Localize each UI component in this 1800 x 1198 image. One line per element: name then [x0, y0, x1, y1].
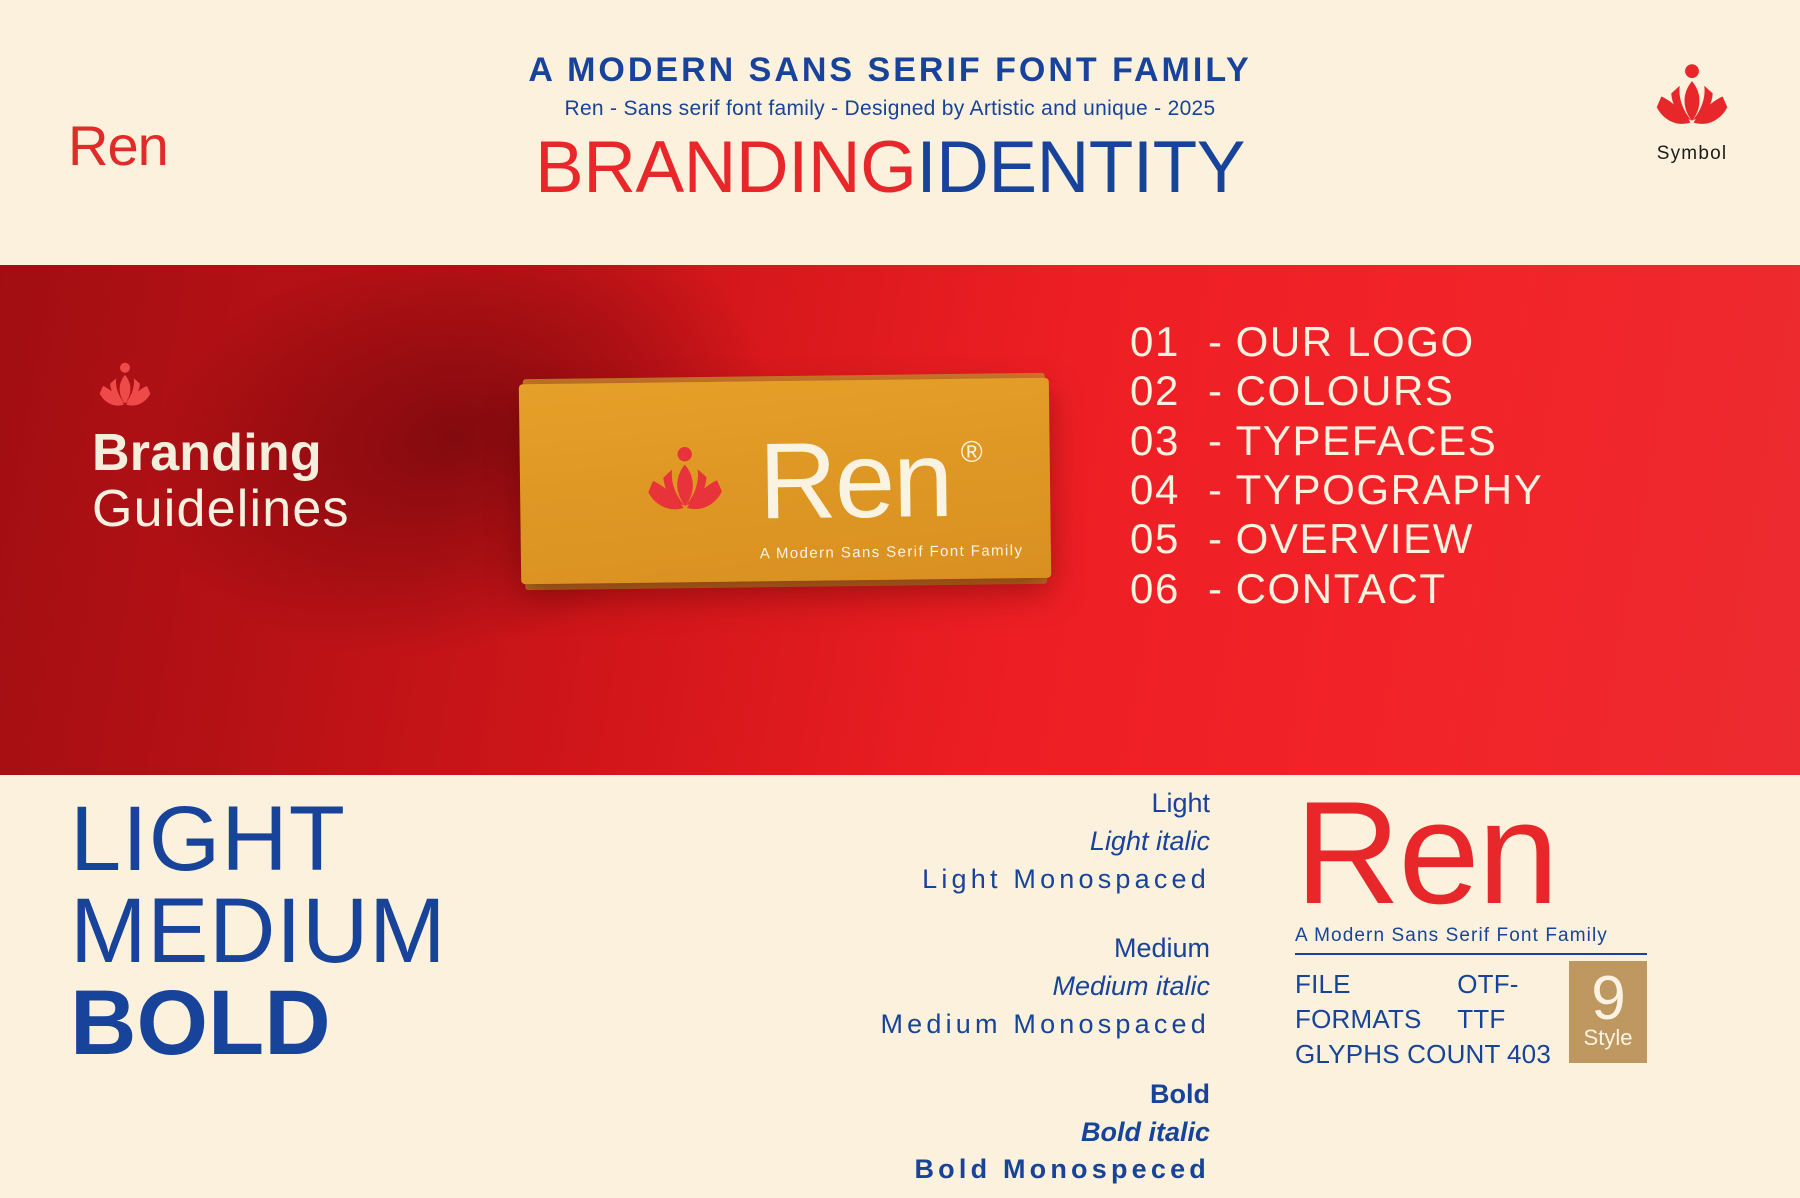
style-light-plain: Light [640, 785, 1210, 823]
style-group-medium: Medium Medium italic Medium Monospaced [640, 930, 1210, 1043]
weight-name-medium: MEDIUM [70, 885, 446, 977]
header-brandmark: Ren [68, 118, 168, 174]
weight-name-bold: BOLD [70, 977, 446, 1069]
title-word-identity: IDENTITY [916, 127, 1245, 208]
index-number: 04 [1130, 465, 1208, 514]
style-count-badge: 9 Style [1569, 961, 1647, 1063]
style-light-mono: Light Monospaced [640, 861, 1210, 899]
branding-guidelines-block: Branding Guidelines [92, 361, 512, 537]
index-item[interactable]: 02 - COLOURS [1130, 366, 1543, 415]
index-item[interactable]: 01 - OUR LOGO [1130, 317, 1543, 366]
red-band-section: Branding Guidelines Ren ® A Mode [0, 265, 1800, 775]
lotus-icon [636, 444, 733, 521]
meta-value: 403 [1507, 1037, 1551, 1072]
specimen-tagline: A Modern Sans Serif Font Family [1295, 925, 1647, 955]
specimen-wordmark: Ren [1295, 785, 1695, 921]
poster-canvas: Ren A MODERN SANS SERIF FONT FAMILY Ren … [0, 0, 1800, 1198]
box-wordmark: Ren [758, 428, 951, 533]
badge-number: 9 [1591, 974, 1624, 1025]
style-bold-italic: Bold italic [640, 1114, 1210, 1152]
index-dash: - [1208, 465, 1224, 514]
index-label: OUR LOGO [1236, 317, 1475, 366]
lotus-icon [92, 361, 158, 413]
style-light-italic: Light italic [640, 823, 1210, 861]
style-bold-plain: Bold [640, 1076, 1210, 1114]
meta-label: GLYPHS COUNT [1295, 1037, 1501, 1072]
box-tagline: A Modern Sans Serif Font Family [760, 543, 952, 562]
index-dash: - [1208, 416, 1224, 465]
product-box-mockup: Ren ® A Modern Sans Serif Font Family [519, 378, 1051, 584]
contents-index-list: 01 - OUR LOGO 02 - COLOURS 03 - TYPEFACE… [1130, 317, 1543, 613]
meta-value: OTF-TTF [1457, 967, 1551, 1037]
style-group-light: Light Light italic Light Monospaced [640, 785, 1210, 898]
lotus-icon [1646, 62, 1738, 134]
box-wordmark-wrap: Ren ® A Modern Sans Serif Font Family [758, 428, 951, 533]
index-item[interactable]: 04 - TYPOGRAPHY [1130, 465, 1543, 514]
box-content: Ren ® A Modern Sans Serif Font Family [519, 378, 1051, 584]
specimen-block: Ren A Modern Sans Serif Font Family FILE… [1295, 785, 1695, 1072]
index-number: 01 [1130, 317, 1208, 366]
index-label: OVERVIEW [1236, 514, 1474, 563]
index-item[interactable]: 05 - OVERVIEW [1130, 514, 1543, 563]
symbol-caption: Symbol [1622, 143, 1762, 165]
guidelines-lotus-wrap [92, 361, 512, 418]
meta-label: FILE FORMATS [1295, 967, 1457, 1037]
specimen-meta-block: FILE FORMATS OTF-TTF GLYPHS COUNT 403 9 … [1295, 967, 1647, 1072]
badge-word: Style [1584, 1027, 1633, 1049]
index-label: CONTACT [1236, 564, 1447, 613]
style-medium-mono: Medium Monospaced [640, 1006, 1210, 1044]
index-number: 02 [1130, 366, 1208, 415]
index-number: 05 [1130, 514, 1208, 563]
header-tagline-caps: A MODERN SANS SERIF FONT FAMILY [380, 50, 1400, 91]
weight-names-block: LIGHT MEDIUM BOLD [70, 793, 446, 1069]
guidelines-title-bold: Branding [92, 426, 512, 481]
style-medium-italic: Medium italic [640, 968, 1210, 1006]
index-label: COLOURS [1236, 366, 1455, 415]
header-title-block: A MODERN SANS SERIF FONT FAMILY Ren - Sa… [380, 50, 1400, 209]
header-symbol-block: Symbol [1622, 62, 1762, 165]
index-dash: - [1208, 366, 1224, 415]
index-item[interactable]: 06 - CONTACT [1130, 564, 1543, 613]
title-word-branding: BRANDING [535, 127, 916, 208]
registered-trademark-icon: ® [960, 435, 983, 469]
style-medium-plain: Medium [640, 930, 1210, 968]
header-credit-line: Ren - Sans serif font family - Designed … [380, 93, 1400, 126]
index-label: TYPEFACES [1236, 416, 1498, 465]
guidelines-title-light: Guidelines [92, 481, 512, 537]
bottom-section: LIGHT MEDIUM BOLD Light Light italic Lig… [0, 775, 1800, 1198]
index-number: 06 [1130, 564, 1208, 613]
index-label: TYPOGRAPHY [1236, 465, 1544, 514]
weight-name-light: LIGHT [70, 793, 446, 885]
index-dash: - [1208, 514, 1224, 563]
style-list-block: Light Light italic Light Monospaced Medi… [640, 785, 1210, 1198]
style-group-bold: Bold Bold italic Bold Monospeced [640, 1076, 1210, 1189]
header-section: Ren A MODERN SANS SERIF FONT FAMILY Ren … [0, 0, 1800, 265]
style-bold-mono: Bold Monospeced [640, 1151, 1210, 1189]
index-dash: - [1208, 564, 1224, 613]
index-item[interactable]: 03 - TYPEFACES [1130, 416, 1543, 465]
index-dash: - [1208, 317, 1224, 366]
header-main-title: BRANDINGIDENTITY [380, 127, 1400, 209]
index-number: 03 [1130, 416, 1208, 465]
